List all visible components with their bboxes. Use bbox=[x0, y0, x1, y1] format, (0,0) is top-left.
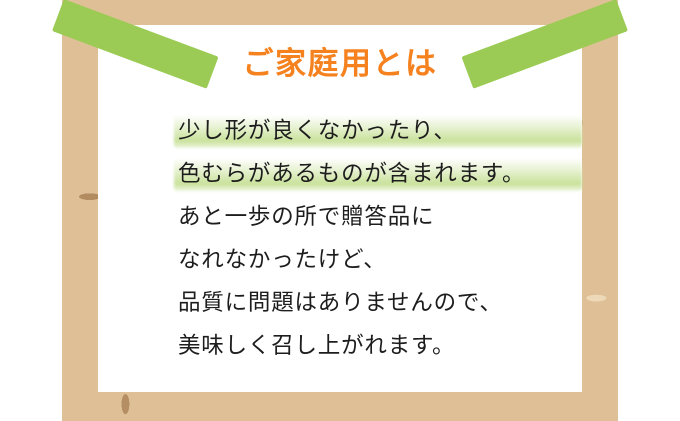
body-line-text: 色むらがあるものが含まれます。 bbox=[178, 161, 525, 186]
card-content: ご家庭用とは 少し形が良くなかったり、 色むらがあるものが含まれます。 あと一歩… bbox=[98, 25, 582, 392]
body-line: 美味しく召し上がれます。 bbox=[178, 324, 578, 367]
body-line-text: 美味しく召し上がれます。 bbox=[178, 333, 455, 358]
body-line: 色むらがあるものが含まれます。 bbox=[178, 152, 578, 195]
body-line: 品質に問題はありませんので、 bbox=[178, 281, 578, 324]
body-line: 少し形が良くなかったり、 bbox=[178, 109, 578, 152]
body-line-text: なれなかったけど、 bbox=[178, 247, 387, 272]
body-line: あと一歩の所で贈答品に bbox=[178, 195, 578, 238]
page-title: ご家庭用とは bbox=[98, 48, 582, 79]
body-text-block: 少し形が良くなかったり、 色むらがあるものが含まれます。 あと一歩の所で贈答品に… bbox=[178, 109, 578, 367]
body-line-text: あと一歩の所で贈答品に bbox=[178, 204, 434, 229]
body-line: なれなかったけど、 bbox=[178, 238, 578, 281]
body-line-text: 少し形が良くなかったり、 bbox=[178, 118, 457, 143]
banner-image: ご家庭用とは 少し形が良くなかったり、 色むらがあるものが含まれます。 あと一歩… bbox=[0, 0, 680, 421]
body-line-text: 品質に問題はありませんので、 bbox=[178, 290, 503, 315]
